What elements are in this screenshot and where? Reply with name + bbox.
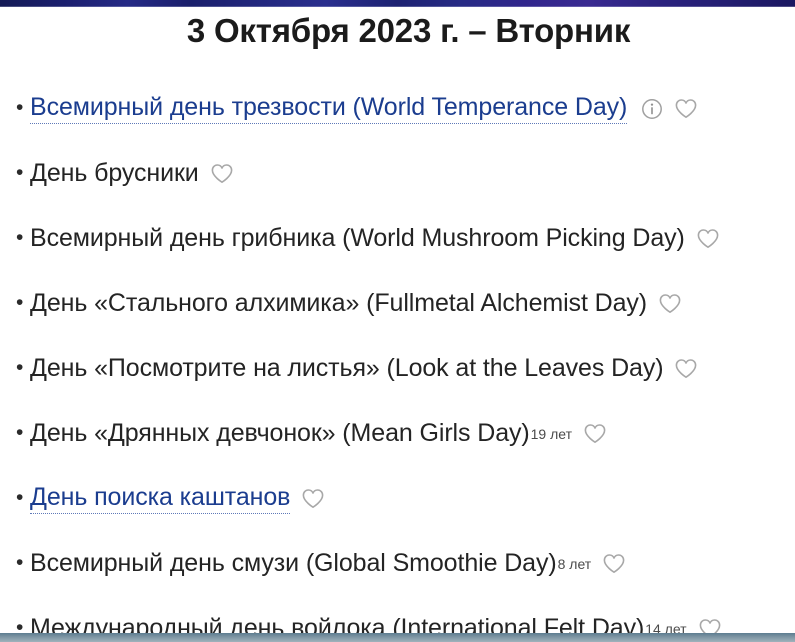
heart-icon[interactable]: [210, 163, 234, 185]
holiday-link[interactable]: День поиска каштанов: [30, 483, 290, 514]
info-icon[interactable]: [641, 98, 663, 120]
bullet-icon: •: [16, 227, 30, 248]
heart-icon[interactable]: [696, 228, 720, 250]
anniversary-age: 19 лет: [531, 426, 572, 442]
holiday-label: День «Посмотрите на листья» (Look at the…: [30, 354, 663, 383]
list-item: •День поиска каштанов: [0, 466, 795, 531]
list-item: •Всемирный день грибника (World Mushroom…: [0, 206, 795, 271]
holiday-label: День «Стального алхимика» (Fullmetal Alc…: [30, 289, 647, 318]
list-item: •День «Стального алхимика» (Fullmetal Al…: [0, 271, 795, 336]
heart-icon[interactable]: [301, 488, 325, 510]
heart-icon[interactable]: [674, 358, 698, 380]
holiday-list-page: 3 Октября 2023 г. – Вторник •Всемирный д…: [0, 0, 795, 642]
page-title: 3 Октября 2023 г. – Вторник: [0, 12, 795, 50]
bullet-icon: •: [16, 422, 30, 443]
heart-icon[interactable]: [658, 293, 682, 315]
list-item: •Всемирный день трезвости (World Tempera…: [0, 76, 795, 141]
bullet-icon: •: [16, 292, 30, 313]
list-item: •День «Дрянных девчонок» (Mean Girls Day…: [0, 401, 795, 466]
bullet-icon: •: [16, 97, 30, 118]
heart-icon[interactable]: [602, 553, 626, 575]
holiday-list: •Всемирный день трезвости (World Tempera…: [0, 76, 795, 642]
list-item: •День «Посмотрите на листья» (Look at th…: [0, 336, 795, 401]
holiday-label: День «Дрянных девчонок» (Mean Girls Day): [30, 419, 530, 448]
bullet-icon: •: [16, 162, 30, 183]
holiday-label: Всемирный день грибника (World Mushroom …: [30, 224, 685, 253]
bullet-icon: •: [16, 487, 30, 508]
holiday-link[interactable]: Всемирный день трезвости (World Temperan…: [30, 93, 627, 124]
list-item: •День брусники: [0, 141, 795, 206]
top-decorative-band: [0, 0, 795, 7]
anniversary-age: 8 лет: [558, 556, 592, 572]
bullet-icon: •: [16, 357, 30, 378]
bullet-icon: •: [16, 552, 30, 573]
holiday-label: Всемирный день смузи (Global Smoothie Da…: [30, 549, 557, 578]
heart-icon[interactable]: [674, 98, 698, 120]
heart-icon[interactable]: [583, 423, 607, 445]
bottom-decorative-band: [0, 633, 795, 642]
list-item: •Всемирный день смузи (Global Smoothie D…: [0, 531, 795, 596]
holiday-label: День брусники: [30, 159, 199, 188]
